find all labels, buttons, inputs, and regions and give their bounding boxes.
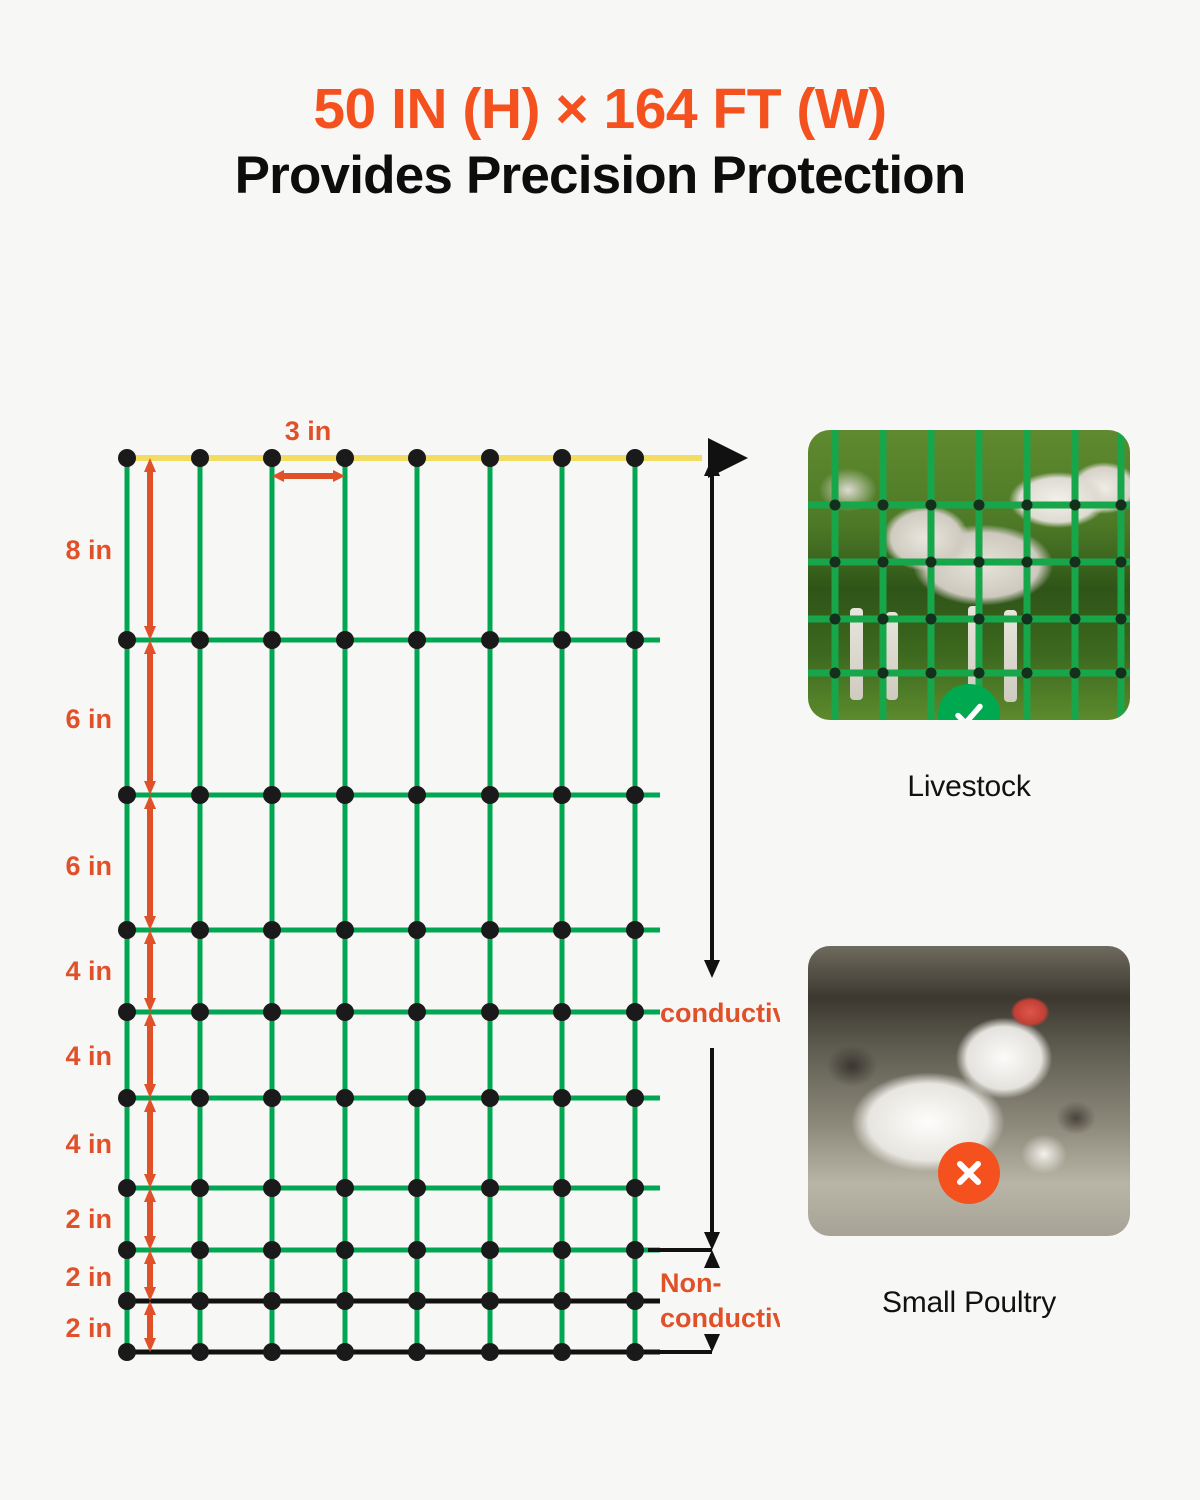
cross-icon bbox=[938, 1142, 1000, 1204]
non-conductive-zone-label-line1: Non- bbox=[660, 1268, 721, 1298]
spacing-label-6: 2 in bbox=[65, 1204, 112, 1234]
horizontal-conductive-strands bbox=[127, 640, 660, 1250]
spacing-label-1: 6 in bbox=[65, 704, 112, 734]
intersection-nodes bbox=[118, 449, 644, 1361]
non-conductive-zone-label-line2: conductive bbox=[660, 1303, 780, 1333]
spacing-label-5: 4 in bbox=[65, 1129, 112, 1159]
card-caption-livestock: Livestock bbox=[808, 770, 1130, 804]
card-caption-small-poultry: Small Poultry bbox=[808, 1286, 1130, 1320]
card-small-poultry: Small Poultry bbox=[808, 946, 1130, 1320]
horizontal-non-conductive-strands bbox=[127, 1301, 660, 1352]
spacing-label-0: 8 in bbox=[65, 535, 112, 565]
spacing-label-7: 2 in bbox=[65, 1262, 112, 1292]
conductive-zone-label: conductive bbox=[660, 998, 780, 1028]
green-mesh-overlay bbox=[808, 430, 1130, 720]
spacing-label-2: 6 in bbox=[65, 851, 112, 881]
spacing-label-3: 4 in bbox=[65, 956, 112, 986]
livestock-photo bbox=[808, 430, 1130, 720]
suitability-cards: Livestock Small Poultry bbox=[808, 430, 1148, 1320]
horizontal-spacing-label: 3 in bbox=[285, 416, 332, 446]
horizontal-spacing-dimension bbox=[272, 470, 345, 482]
spacing-label-8: 2 in bbox=[65, 1313, 112, 1343]
spacing-label-4: 4 in bbox=[65, 1041, 112, 1071]
vertical-strands bbox=[127, 458, 635, 1352]
card-livestock: Livestock bbox=[808, 430, 1130, 804]
netting-spacing-diagram: 3 in 8 in 6 in 6 in 4 in 4 in 4 in 2 in … bbox=[0, 0, 780, 1500]
